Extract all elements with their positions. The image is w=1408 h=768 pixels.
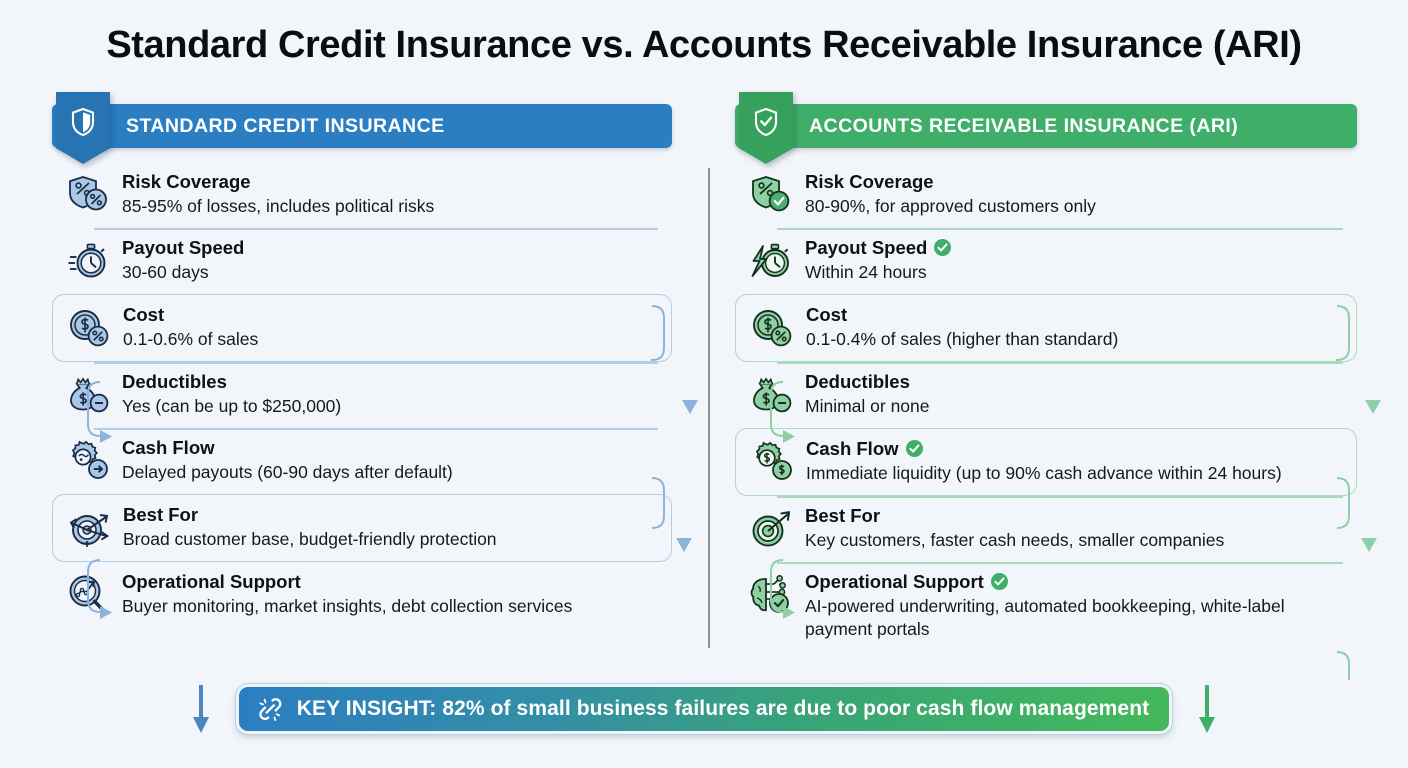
row-operational-support-standard: Operational Support Buyer monitoring, ma… — [52, 562, 672, 628]
row-label: Cash Flow — [806, 438, 1282, 460]
broken-chain-icon — [255, 694, 285, 724]
row-value: Buyer monitoring, market insights, debt … — [122, 595, 572, 618]
panel-header-ari: ACCOUNTS RECEIVABLE INSURANCE (ARI) — [735, 104, 1357, 148]
row-body: Best For Broad customer base, budget-fri… — [123, 502, 497, 551]
row-body: Deductibles Yes (can be up to $250,000) — [122, 369, 341, 418]
row-cost-ari: Cost 0.1-0.4% of sales (higher than stan… — [735, 294, 1357, 362]
key-insight-banner: KEY INSIGHT: 82% of small business failu… — [236, 684, 1173, 734]
row-deductibles-ari: Deductibles Minimal or none — [735, 362, 1357, 428]
shield-percent-check-icon — [743, 169, 799, 221]
row-body: Payout Speed Within 24 hours — [805, 235, 951, 284]
row-cash-flow-standard: Cash Flow Delayed payouts (60-90 days af… — [52, 428, 672, 494]
row-body: Deductibles Minimal or none — [805, 369, 930, 418]
row-value: 85-95% of losses, includes political ris… — [122, 195, 434, 218]
row-label: Payout Speed — [122, 237, 244, 259]
row-body: Cost 0.1-0.6% of sales — [123, 302, 258, 351]
row-cost-standard: Cost 0.1-0.6% of sales — [52, 294, 672, 362]
row-label: Operational Support — [805, 571, 1347, 593]
panel-header-label-ari: ACCOUNTS RECEIVABLE INSURANCE (ARI) — [809, 115, 1238, 138]
gear-arrow-icon — [60, 435, 116, 487]
panel-divider — [708, 168, 710, 648]
row-value: 80-90%, for approved customers only — [805, 195, 1096, 218]
row-body: Risk Coverage 80-90%, for approved custo… — [805, 169, 1096, 218]
row-best-for-ari: Best For Key customers, faster cash need… — [735, 496, 1357, 562]
row-label: Risk Coverage — [805, 171, 1096, 193]
row-body: Cash Flow Delayed payouts (60-90 days af… — [122, 435, 453, 484]
row-label: Operational Support — [122, 571, 572, 593]
shield-percent-icon — [60, 169, 116, 221]
row-cash-flow-ari: Cash Flow Immediate liquidity (up to 90%… — [735, 428, 1357, 496]
row-value: Minimal or none — [805, 395, 930, 418]
row-body: Operational Support Buyer monitoring, ma… — [122, 569, 572, 618]
row-body: Best For Key customers, faster cash need… — [805, 503, 1224, 552]
money-bag-minus-icon — [60, 369, 116, 421]
panel-header-label-standard: STANDARD CREDIT INSURANCE — [126, 115, 445, 138]
money-bag-minus-icon — [743, 369, 799, 421]
row-value: Immediate liquidity (up to 90% cash adva… — [806, 462, 1282, 485]
row-payout-speed-standard: Payout Speed 30-60 days — [52, 228, 672, 294]
row-label: Payout Speed — [805, 237, 951, 259]
row-value: 0.1-0.4% of sales (higher than standard) — [806, 328, 1118, 351]
page-title: Standard Credit Insurance vs. Accounts R… — [0, 24, 1408, 67]
rows-standard: Risk Coverage 85-95% of losses, includes… — [52, 162, 672, 628]
standard-badge — [56, 92, 110, 164]
row-label: Deductibles — [805, 371, 930, 393]
row-value: 30-60 days — [122, 261, 244, 284]
row-operational-support-ari: Operational Support AI-powered underwrit… — [735, 562, 1357, 648]
row-body: Cost 0.1-0.4% of sales (higher than stan… — [806, 302, 1118, 351]
key-insight-section: KEY INSIGHT: 82% of small business failu… — [0, 676, 1408, 742]
key-insight-text: KEY INSIGHT: 82% of small business failu… — [297, 697, 1150, 721]
coin-percent-icon — [744, 302, 800, 354]
row-value: Yes (can be up to $250,000) — [122, 395, 341, 418]
row-best-for-standard: Best For Broad customer base, budget-fri… — [52, 494, 672, 562]
row-value: Broad customer base, budget-friendly pro… — [123, 528, 497, 551]
row-value: 0.1-0.6% of sales — [123, 328, 258, 351]
stopwatch-icon — [60, 235, 116, 287]
shield-check-icon — [753, 107, 779, 137]
target-arrow-icon — [61, 502, 117, 554]
panel-standard-credit-insurance: STANDARD CREDIT INSURANCE — [52, 104, 672, 628]
lightning-stopwatch-icon — [743, 235, 799, 287]
row-label: Risk Coverage — [122, 171, 434, 193]
panel-header-standard: STANDARD CREDIT INSURANCE — [52, 104, 672, 148]
gear-dollar-icon — [744, 436, 800, 488]
arrow-down-icon — [1194, 683, 1220, 735]
row-label: Best For — [805, 505, 1224, 527]
row-risk-coverage-standard: Risk Coverage 85-95% of losses, includes… — [52, 162, 672, 228]
row-label: Cost — [806, 304, 1118, 326]
row-risk-coverage-ari: Risk Coverage 80-90%, for approved custo… — [735, 162, 1357, 228]
row-body: Risk Coverage 85-95% of losses, includes… — [122, 169, 434, 218]
panel-accounts-receivable-insurance: ACCOUNTS RECEIVABLE INSURANCE (ARI) Ri — [735, 104, 1357, 648]
target-arrow-icon — [743, 503, 799, 555]
arrow-down-icon — [188, 683, 214, 735]
check-badge-icon — [991, 573, 1008, 590]
brain-check-icon — [743, 569, 799, 621]
shield-icon — [70, 107, 96, 137]
coin-percent-icon — [61, 302, 117, 354]
row-body: Cash Flow Immediate liquidity (up to 90%… — [806, 436, 1282, 485]
row-value: Within 24 hours — [805, 261, 951, 284]
row-value: Delayed payouts (60-90 days after defaul… — [122, 461, 453, 484]
row-label: Best For — [123, 504, 497, 526]
row-body: Operational Support AI-powered underwrit… — [805, 569, 1347, 641]
row-label: Cash Flow — [122, 437, 453, 459]
row-label: Cost — [123, 304, 258, 326]
row-deductibles-standard: Deductibles Yes (can be up to $250,000) — [52, 362, 672, 428]
row-label: Deductibles — [122, 371, 341, 393]
ari-badge — [739, 92, 793, 164]
row-value: AI-powered underwriting, automated bookk… — [805, 595, 1347, 641]
infographic-root: Standard Credit Insurance vs. Accounts R… — [0, 0, 1408, 768]
check-badge-icon — [906, 440, 923, 457]
rows-ari: Risk Coverage 80-90%, for approved custo… — [735, 162, 1357, 648]
row-payout-speed-ari: Payout Speed Within 24 hours — [735, 228, 1357, 294]
row-body: Payout Speed 30-60 days — [122, 235, 244, 284]
magnifier-chart-icon — [60, 569, 116, 621]
check-badge-icon — [934, 239, 951, 256]
row-value: Key customers, faster cash needs, smalle… — [805, 529, 1224, 552]
